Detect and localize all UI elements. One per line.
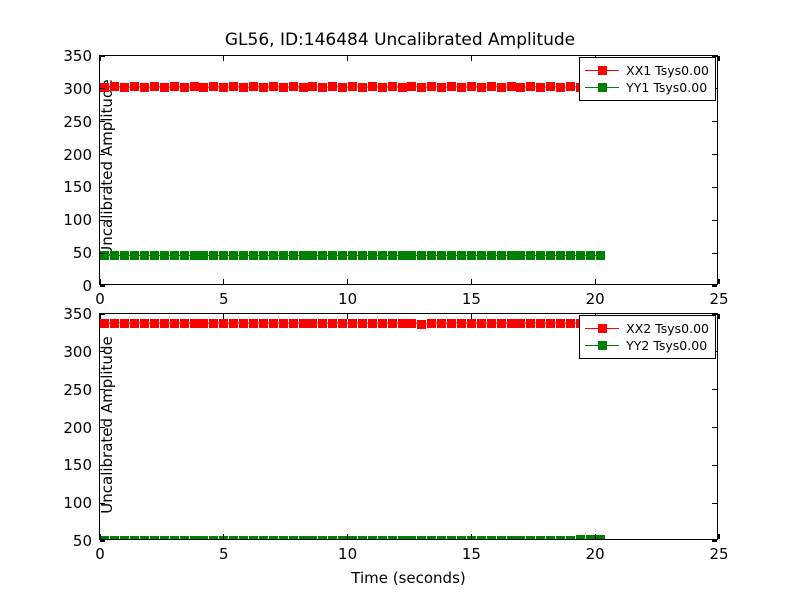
y-tick (100, 313, 105, 314)
x-tick (99, 534, 100, 539)
y-tick-label: 0 (82, 277, 92, 295)
y-tick (100, 121, 105, 122)
x-axis-label: Time (seconds) (100, 569, 717, 587)
y-tick-label: 150 (63, 456, 92, 474)
y-tick (712, 389, 717, 390)
x-tick (471, 279, 472, 284)
legend-item[interactable]: YY1 Tsys0.00 (585, 79, 709, 96)
y-tick (100, 389, 105, 390)
y-tick (100, 540, 105, 541)
legend-label-yy2: YY2 Tsys0.00 (626, 338, 707, 353)
legend-item[interactable]: XX1 Tsys0.00 (585, 62, 709, 79)
legend-label-xx1: XX1 Tsys0.00 (626, 63, 709, 78)
x-tick (347, 314, 348, 319)
legend-bottom[interactable]: XX2 Tsys0.00 YY2 Tsys0.00 (579, 315, 716, 359)
y-tick-label: 100 (63, 211, 92, 229)
y-tick (712, 285, 717, 286)
x-tick (223, 534, 224, 539)
x-tick (347, 279, 348, 284)
y-tick (100, 427, 105, 428)
x-tick (595, 279, 596, 284)
y-tick (712, 154, 717, 155)
y-tick-label: 350 (63, 305, 92, 323)
y-tick-label: 300 (63, 343, 92, 361)
y-tick-label: 250 (63, 381, 92, 399)
legend-item[interactable]: XX2 Tsys0.00 (585, 320, 709, 337)
y-tick-label: 50 (73, 244, 92, 262)
y-tick (712, 503, 717, 504)
x-tick (99, 314, 100, 319)
y-tick-label: 100 (63, 494, 92, 512)
x-tick (595, 534, 596, 539)
x-tick (99, 279, 100, 284)
y-tick (712, 540, 717, 541)
x-tick (347, 56, 348, 61)
x-tick-label: 0 (95, 290, 105, 308)
legend-label-xx2: XX2 Tsys0.00 (626, 321, 709, 336)
x-tick (223, 56, 224, 61)
legend-swatch-yy2 (585, 340, 619, 351)
legend-swatch-yy1 (585, 82, 619, 93)
legend-top[interactable]: XX1 Tsys0.00 YY1 Tsys0.00 (579, 57, 716, 101)
y-tick (100, 220, 105, 221)
figure-title: GL56, ID:146484 Uncalibrated Amplitude (0, 30, 800, 50)
x-tick (471, 534, 472, 539)
x-tick-label: 5 (219, 545, 229, 563)
y-tick (100, 187, 105, 188)
y-tick-label: 200 (63, 146, 92, 164)
y-tick (712, 253, 717, 254)
figure-canvas: GL56, ID:146484 Uncalibrated Amplitude U… (0, 0, 800, 600)
x-tick (718, 534, 719, 539)
x-tick-label: 5 (219, 290, 229, 308)
y-tick (100, 351, 105, 352)
y-tick (712, 465, 717, 466)
y-tick (100, 465, 105, 466)
plot-panel-top[interactable]: Uncalibrated Amplitude 05010015020025030… (99, 55, 718, 285)
x-tick (223, 314, 224, 319)
legend-swatch-xx1 (585, 65, 619, 76)
x-tick (347, 534, 348, 539)
x-tick-label: 10 (338, 290, 357, 308)
x-tick (718, 314, 719, 319)
y-tick-label: 50 (73, 532, 92, 550)
x-tick-label: 15 (462, 290, 481, 308)
plot-panel-bottom[interactable]: Uncalibrated Amplitude 50100150200250300… (99, 313, 718, 540)
y-tick (100, 154, 105, 155)
x-tick (471, 56, 472, 61)
y-tick-label: 150 (63, 178, 92, 196)
y-tick-label: 200 (63, 419, 92, 437)
x-tick (471, 314, 472, 319)
x-tick-label: 0 (95, 545, 105, 563)
x-tick (99, 56, 100, 61)
x-tick-label: 20 (586, 290, 605, 308)
legend-label-yy1: YY1 Tsys0.00 (626, 80, 707, 95)
y-tick (100, 88, 105, 89)
y-tick (712, 427, 717, 428)
y-tick-label: 350 (63, 47, 92, 65)
x-tick (718, 56, 719, 61)
x-tick-label: 15 (462, 545, 481, 563)
y-tick (100, 253, 105, 254)
y-tick (712, 121, 717, 122)
legend-item[interactable]: YY2 Tsys0.00 (585, 337, 709, 354)
y-tick (100, 55, 105, 56)
y-tick (712, 187, 717, 188)
legend-swatch-xx2 (585, 323, 619, 334)
y-tick-label: 300 (63, 80, 92, 98)
y-tick-label: 250 (63, 113, 92, 131)
y-tick (100, 503, 105, 504)
x-tick-label: 20 (586, 545, 605, 563)
x-tick-label: 10 (338, 545, 357, 563)
x-tick (718, 279, 719, 284)
x-tick (223, 279, 224, 284)
x-tick-label: 25 (709, 290, 728, 308)
y-tick (712, 220, 717, 221)
y-tick (100, 285, 105, 286)
x-tick-label: 25 (709, 545, 728, 563)
